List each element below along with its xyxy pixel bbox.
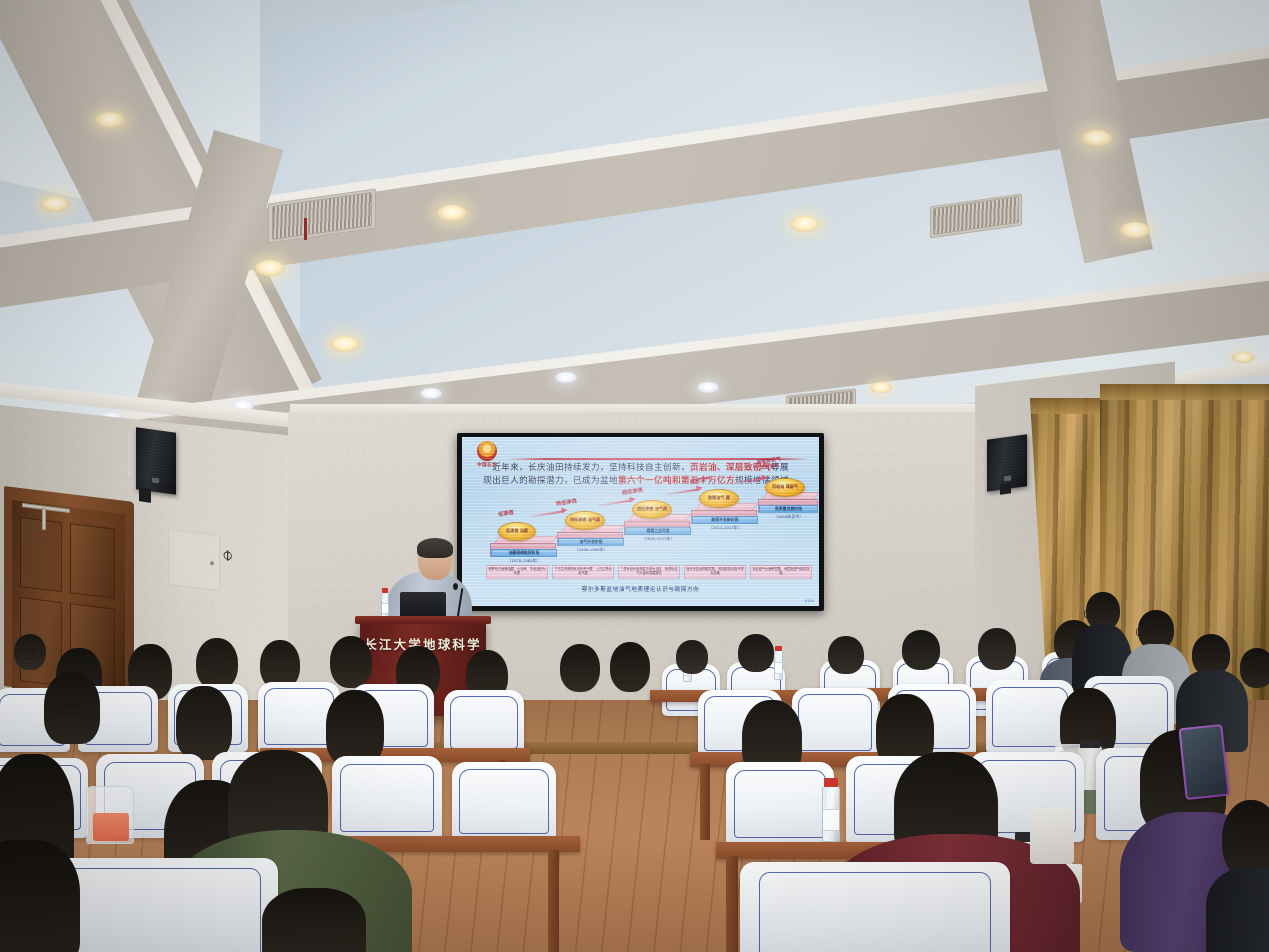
stage-ellipse-3-label: 超低渗透 油气藏 bbox=[637, 507, 667, 512]
bottle-front-right-label bbox=[823, 809, 839, 831]
bottom-note-2: 下古生界奥陶系风化壳气藏，上古生界砂岩气藏 bbox=[552, 565, 614, 579]
stage-ellipse-4-label: 致密油气 藏 bbox=[708, 496, 730, 501]
headline-2-highlight: 第六个一亿吨和第五个万亿方 bbox=[618, 476, 735, 486]
photographer-phone[interactable] bbox=[1178, 724, 1229, 800]
standing-student-glasses-2 bbox=[1136, 628, 1150, 636]
stage-ellipse-2: 特低渗透 油气藏 bbox=[565, 511, 605, 530]
arrow-2 bbox=[598, 499, 632, 507]
wall-speaker-left bbox=[136, 427, 176, 495]
podium-bottle-label bbox=[382, 603, 388, 614]
door-panel-upper-b bbox=[70, 523, 115, 599]
door-panel-upper-a bbox=[20, 517, 62, 592]
audience-head-l10 bbox=[610, 642, 650, 692]
plastic-bag-left-contents bbox=[93, 813, 129, 841]
phone-screen bbox=[1181, 726, 1228, 798]
audience-head-l4 bbox=[196, 638, 238, 690]
ceiling-downlight-8 bbox=[1120, 222, 1150, 238]
bottom-note-5: 页岩油气大面积富集，深层致密气勘探突破 bbox=[750, 565, 812, 579]
desk-front-left-leg bbox=[548, 850, 559, 952]
audience-head-m3 bbox=[326, 690, 384, 766]
stage-box-4-label: 勘探开发新阶段 bbox=[711, 518, 738, 522]
stage-years-2: （1990-1999年） bbox=[558, 547, 624, 553]
arrow-3 bbox=[665, 488, 699, 496]
chair-mid-l6 bbox=[444, 690, 524, 756]
slide-caption: 鄂尔多斯盆地油气地质理论认识与勘探方向 bbox=[462, 585, 819, 593]
chair-mid-r2 bbox=[792, 688, 878, 758]
audience-head-b5 bbox=[978, 628, 1016, 670]
bottle-back-b-label bbox=[775, 662, 782, 674]
curtain-header-inner bbox=[1030, 398, 1110, 414]
podium-microphone-head bbox=[453, 583, 458, 590]
audience-head-l6 bbox=[330, 636, 372, 688]
speaker-bracket-right bbox=[1000, 483, 1011, 495]
slide-page-number: 3/105 bbox=[804, 599, 814, 603]
wall-access-panel bbox=[168, 529, 220, 591]
stage-ellipse-1-label: 低渗透 油藏 bbox=[506, 529, 528, 534]
audience-glasses-l1 bbox=[16, 650, 34, 659]
ceiling-downlight-9 bbox=[1232, 352, 1254, 363]
stage-ellipse-2-label: 特低渗透 油气藏 bbox=[570, 518, 600, 523]
arrow-label-1: 低渗透 bbox=[498, 509, 514, 518]
desk-mid-right-leg bbox=[700, 764, 710, 840]
ceiling-downlight-12 bbox=[697, 382, 719, 393]
chair-foreground-right bbox=[740, 862, 1010, 952]
ceiling-downlight-2 bbox=[40, 196, 70, 212]
speaker-badge-left bbox=[152, 477, 159, 483]
bottom-note-3: 三叠系延长组湖盆中部大油区，致密砂岩气大面积成藏理论 bbox=[618, 565, 680, 579]
speaker-badge-right bbox=[1004, 475, 1011, 481]
arrow-label-2: 特低渗透 bbox=[556, 497, 578, 507]
audience-head-b1 bbox=[676, 640, 708, 674]
audience-head-foreground-left bbox=[0, 840, 80, 952]
podium-top-surface bbox=[355, 616, 491, 624]
bottle-front-right-cap bbox=[824, 778, 838, 787]
bottom-note-5-text: 页岩油气大面积富集，深层致密气勘探突破 bbox=[752, 568, 810, 576]
thermos-cap-right bbox=[1080, 740, 1100, 748]
headline-1-plain-a: 近年来，长庆油田持续发力，坚持科技自主创新， bbox=[492, 463, 690, 473]
stage-ellipse-5: 页岩油 煤层气 bbox=[765, 478, 805, 497]
ceiling bbox=[0, 0, 1269, 430]
bottom-note-2-text: 下古生界奥陶系风化壳气藏，上古生界砂岩气藏 bbox=[554, 568, 612, 576]
stage-years-5: （2018年至今） bbox=[759, 514, 818, 520]
standing-student-head-4 bbox=[1240, 648, 1269, 688]
stage-box-2-label: 油气开发阶段 bbox=[579, 540, 602, 544]
chair-front-l5 bbox=[452, 762, 556, 842]
stage-box-2: 油气开发阶段 bbox=[558, 538, 624, 546]
plastic-bag-left bbox=[86, 786, 134, 844]
speaker-cable-left bbox=[128, 432, 130, 476]
ceiling-downlight-6 bbox=[790, 216, 820, 232]
stage-box-4: 勘探开发新阶段 bbox=[692, 516, 758, 524]
stage-ellipse-1: 低渗透 油藏 bbox=[498, 522, 536, 541]
speaker-bracket-left bbox=[139, 487, 151, 503]
ceiling-downlight-1 bbox=[95, 112, 125, 128]
ceiling-downlight-3 bbox=[255, 260, 285, 276]
ceiling-downlight-11 bbox=[870, 382, 892, 393]
audience-glasses-m1 bbox=[60, 704, 82, 714]
speaker-grille-right bbox=[990, 438, 1024, 481]
stage-years-1: （1970-1989年） bbox=[491, 558, 557, 564]
ceiling-downlight-13 bbox=[555, 372, 577, 383]
bottom-note-3-text: 三叠系延长组湖盆中部大油区，致密砂岩气大面积成藏理论 bbox=[620, 568, 678, 576]
lecture-hall-photo: ⌽ 中国石油 近年来，长庆油田持续发力，坚持科技自主创新，页岩油、深层致密气等展… bbox=[0, 0, 1269, 952]
cnpc-sun-icon bbox=[477, 441, 497, 461]
headline-2-plain-a: 现出巨人的勘探潜力，已成为盆地 bbox=[483, 476, 618, 486]
audience-head-m2 bbox=[176, 686, 232, 760]
bottle-back-b bbox=[774, 650, 783, 680]
ceiling-downlight-14 bbox=[420, 388, 442, 399]
stage-box-1-label: 油藏规模勘探阶段 bbox=[508, 551, 539, 555]
ceiling-downlight-4 bbox=[437, 205, 467, 221]
sprinkler-pipe-upper bbox=[304, 218, 307, 240]
stage-box-3-label: 规模工业开发 bbox=[646, 529, 669, 533]
audience-head-foreground-mid bbox=[262, 888, 366, 952]
stage-box-5-label: 高质量发展阶段 bbox=[775, 507, 802, 511]
door-handle[interactable] bbox=[42, 508, 46, 530]
bottle-front-right bbox=[822, 786, 840, 842]
bottom-note-1-text: 侏罗系古地貌油藏，以马岭、华池油田为代表 bbox=[488, 568, 546, 576]
wall-hook-bracket: ⌽ bbox=[222, 545, 233, 565]
desk-front-right-leg bbox=[726, 856, 738, 952]
standing-student-glasses-1 bbox=[1084, 610, 1097, 618]
ceiling-downlight-5 bbox=[330, 336, 360, 352]
wall-access-panel-knob bbox=[210, 561, 214, 565]
chair-front-r1 bbox=[726, 762, 834, 846]
stage-years-4: （2014-2017年） bbox=[692, 525, 758, 531]
bottom-note-4-text: 陇东页岩油规模富集，风险勘探页岩气重大突破 bbox=[686, 568, 744, 576]
cup-foreground-right bbox=[1030, 808, 1074, 864]
bottle-back-b-cap bbox=[775, 646, 782, 651]
audience-head-l9 bbox=[560, 644, 600, 692]
audience-head-b3 bbox=[828, 636, 864, 674]
audience-head-b2 bbox=[738, 634, 774, 672]
ceiling-downlight-7 bbox=[1082, 130, 1112, 146]
podium-bottle-cap bbox=[382, 588, 388, 593]
stage-ellipse-4: 致密油气 藏 bbox=[699, 489, 739, 508]
speaker-grille-left bbox=[139, 432, 173, 482]
curtain-header-outer bbox=[1100, 384, 1269, 400]
bottom-note-4: 陇东页岩油规模富集，风险勘探页岩气重大突破 bbox=[684, 565, 746, 579]
stage-box-3: 规模工业开发 bbox=[625, 527, 691, 535]
audience-head-b4 bbox=[902, 630, 940, 670]
presenter-hair bbox=[417, 538, 453, 558]
presenter-face bbox=[421, 555, 449, 580]
arrow-1 bbox=[530, 510, 564, 518]
audience-body-far-right bbox=[1206, 868, 1269, 952]
presenter-laptop-lid bbox=[400, 592, 446, 618]
stage-ellipse-5-label: 页岩油 煤层气 bbox=[772, 485, 798, 490]
led-screen[interactable]: 中国石油 近年来，长庆油田持续发力，坚持科技自主创新，页岩油、深层致密气等展 现… bbox=[462, 437, 819, 606]
bottom-note-1: 侏罗系古地貌油藏，以马岭、华池油田为代表 bbox=[486, 565, 548, 579]
stage-box-5: 高质量发展阶段 bbox=[759, 505, 818, 513]
stage-ellipse-3: 超低渗透 油气藏 bbox=[632, 500, 672, 519]
stage-box-1: 油藏规模勘探阶段 bbox=[491, 549, 557, 557]
chair-front-l4 bbox=[332, 756, 442, 840]
stage-years-3: （2000-2013年） bbox=[625, 536, 691, 542]
